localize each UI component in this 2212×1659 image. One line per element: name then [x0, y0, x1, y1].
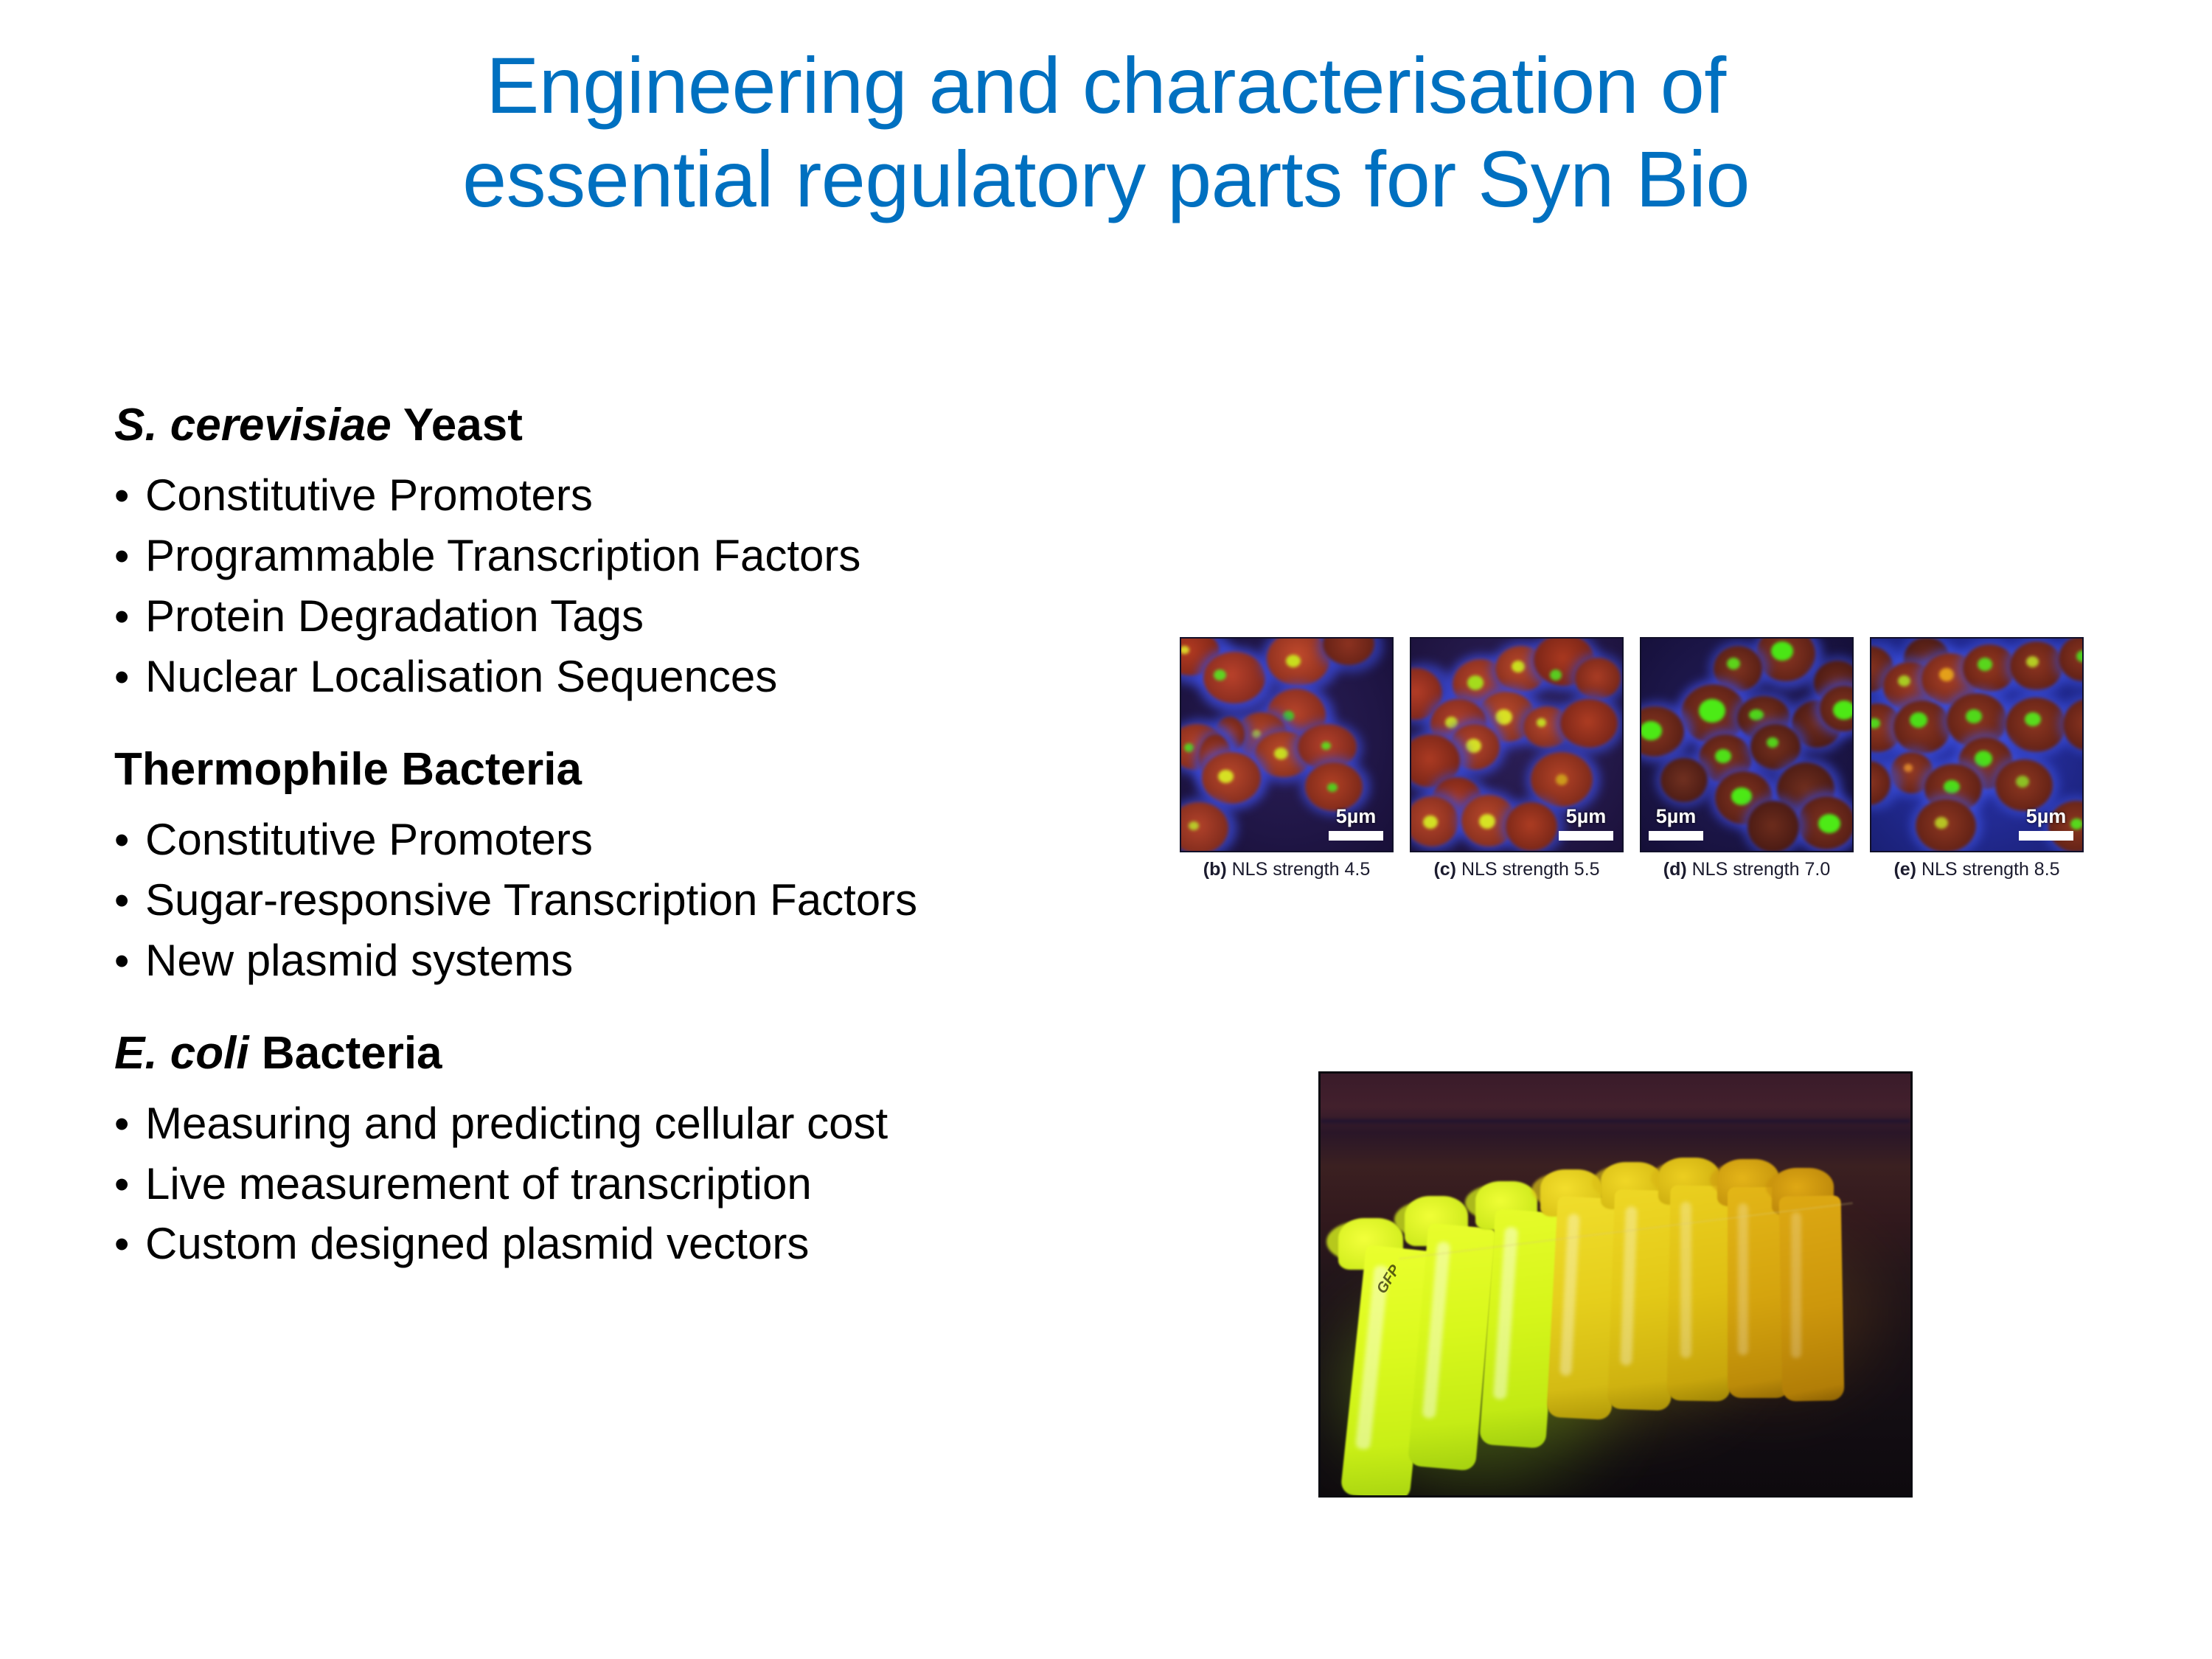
bullet-point-icon: •	[114, 1155, 145, 1214]
panel-tag: (e)	[1893, 859, 1916, 880]
scale-bar-group: 5µm	[2019, 807, 2073, 841]
section-heading-species: S. cerevisiae	[114, 400, 392, 451]
panel-tag: (b)	[1203, 859, 1227, 880]
bullet-point-icon: •	[114, 1215, 145, 1273]
tube-sheen	[1791, 1212, 1801, 1358]
section-yeast: S. cerevisiae Yeast • Constitutive Promo…	[114, 398, 1309, 707]
panel-tag: (c)	[1433, 859, 1456, 880]
bullet-point-icon: •	[114, 1095, 145, 1153]
panel-caption-text: NLS strength 4.5	[1227, 859, 1371, 880]
bullet-point-icon: •	[114, 811, 145, 869]
micrograph-caption-d: (d) NLS strength 7.0	[1640, 858, 1854, 880]
bullet-point-icon: •	[114, 872, 145, 930]
panel-caption-text: NLS strength 7.0	[1687, 859, 1831, 880]
bullet-point-icon: •	[114, 527, 145, 585]
scale-bar-icon	[2019, 831, 2073, 841]
list-item: • New plasmid systems	[114, 931, 1309, 991]
scale-bar-icon	[1649, 831, 1703, 841]
scale-bar-label: 5µm	[1559, 807, 1613, 827]
bullet-point-icon: •	[114, 588, 145, 646]
tube	[1779, 1195, 1845, 1401]
scale-bar-icon	[1559, 831, 1613, 841]
micrograph-image-c: 5µm	[1410, 637, 1624, 852]
bullet-point-icon: •	[114, 467, 145, 525]
bullet-point-icon: •	[114, 932, 145, 990]
list-item: • Live measurement of transcription	[114, 1154, 1309, 1214]
scale-bar-label: 5µm	[2019, 807, 2073, 827]
bullet-list-yeast: • Constitutive Promoters • Programmable …	[114, 465, 1309, 707]
list-item: • Custom designed plasmid vectors	[114, 1214, 1309, 1274]
list-item: • Programmable Transcription Factors	[114, 526, 1309, 586]
list-item: • Measuring and predicting cellular cost	[114, 1093, 1309, 1154]
bullet-list-ecoli: • Measuring and predicting cellular cost…	[114, 1093, 1309, 1275]
panel-caption-text: NLS strength 8.5	[1916, 859, 2060, 880]
section-heading-suffix: Bacteria	[249, 1028, 442, 1079]
section-heading-yeast: S. cerevisiae Yeast	[114, 398, 1309, 452]
micrograph-figure: 5µm (b) NLS strength 4.5	[1180, 637, 2087, 880]
photo-bench-seam	[1321, 1119, 1910, 1123]
list-item: • Constitutive Promoters	[114, 810, 1309, 870]
list-item-label: Live measurement of transcription	[145, 1154, 812, 1214]
micrograph-caption-e: (e) NLS strength 8.5	[1870, 858, 2084, 880]
list-item: • Protein Degradation Tags	[114, 586, 1309, 647]
micrograph-panel-e: 5µm (e) NLS strength 8.5	[1870, 637, 2084, 880]
bullet-list-thermophile: • Constitutive Promoters • Sugar-respons…	[114, 810, 1309, 991]
list-item: • Nuclear Localisation Sequences	[114, 647, 1309, 707]
fluorescent-tubes-photo: GFP	[1318, 1071, 1913, 1498]
list-item: • Constitutive Promoters	[114, 465, 1309, 526]
list-item-label: New plasmid systems	[145, 931, 573, 991]
list-item-label: Programmable Transcription Factors	[145, 526, 860, 586]
section-ecoli: E. coli Bacteria • Measuring and predict…	[114, 1026, 1309, 1275]
micrograph-panel-c: 5µm (c) NLS strength 5.5	[1410, 637, 1624, 880]
scale-bar-group: 5µm	[1559, 807, 1613, 841]
micrograph-image-b: 5µm	[1180, 637, 1394, 852]
tube-sheen	[1738, 1203, 1748, 1355]
scale-bar-label: 5µm	[1649, 807, 1703, 827]
scale-bar-group: 5µm	[1329, 807, 1383, 841]
list-item: • Sugar-responsive Transcription Factors	[114, 870, 1309, 931]
panel-tag: (d)	[1663, 859, 1687, 880]
section-heading-thermophile: Thermophile Bacteria	[114, 742, 1309, 796]
bullet-point-icon: •	[114, 648, 145, 706]
list-item-label: Protein Degradation Tags	[145, 586, 644, 647]
list-item-label: Measuring and predicting cellular cost	[145, 1093, 888, 1154]
list-item-label: Nuclear Localisation Sequences	[145, 647, 777, 707]
scale-bar-icon	[1329, 831, 1383, 841]
micrograph-panel-b: 5µm (b) NLS strength 4.5	[1180, 637, 1394, 880]
micrograph-caption-b: (b) NLS strength 4.5	[1180, 858, 1394, 880]
section-heading-species: E. coli	[114, 1028, 249, 1079]
content-column: S. cerevisiae Yeast • Constitutive Promo…	[114, 398, 1309, 1274]
panel-caption-text: NLS strength 5.5	[1456, 859, 1600, 880]
section-heading-suffix: Thermophile Bacteria	[114, 744, 582, 795]
list-item-label: Sugar-responsive Transcription Factors	[145, 870, 917, 931]
page-title: Engineering and characterisation of esse…	[133, 38, 2079, 226]
micrograph-image-e: 5µm	[1870, 637, 2084, 852]
scale-bar-group: 5µm	[1649, 807, 1703, 841]
micrograph-caption-c: (c) NLS strength 5.5	[1410, 858, 1624, 880]
section-heading-suffix: Yeast	[392, 400, 523, 451]
list-item-label: Custom designed plasmid vectors	[145, 1214, 809, 1274]
micrograph-panel-d: 5µm (d) NLS strength 7.0	[1640, 637, 1854, 880]
tube-sheen	[1680, 1202, 1691, 1358]
section-thermophile: Thermophile Bacteria • Constitutive Prom…	[114, 742, 1309, 991]
list-item-label: Constitutive Promoters	[145, 810, 593, 870]
micrograph-image-d: 5µm	[1640, 637, 1854, 852]
section-heading-ecoli: E. coli Bacteria	[114, 1026, 1309, 1080]
micrograph-panel-row: 5µm (b) NLS strength 4.5	[1180, 637, 2087, 880]
list-item-label: Constitutive Promoters	[145, 465, 593, 526]
scale-bar-label: 5µm	[1329, 807, 1383, 827]
